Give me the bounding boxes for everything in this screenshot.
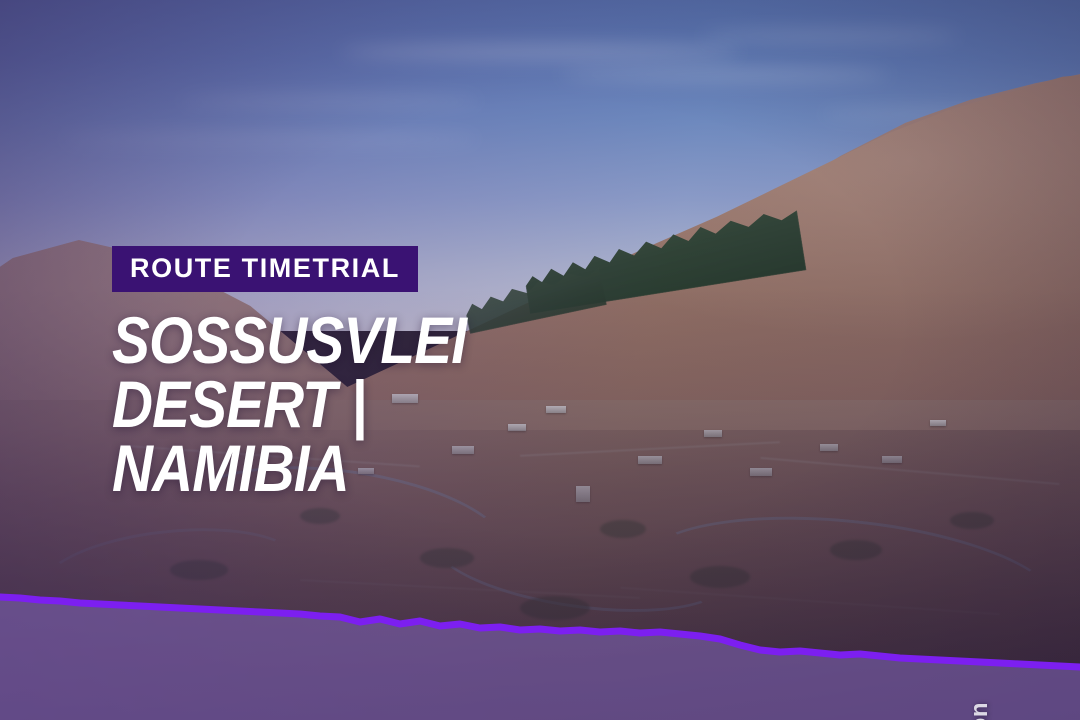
page-title: SOSSUSVLEI DESERT | NAMIBIA xyxy=(112,308,645,500)
route-preview-card: ROUTE TIMETRIAL SOSSUSVLEI DESERT | NAMI… xyxy=(0,0,1080,720)
route-type-badge: ROUTE TIMETRIAL xyxy=(112,246,418,292)
elevation-axis-label: Elevation xyxy=(966,702,994,720)
elevation-profile-chart xyxy=(0,520,1080,720)
route-type-badge-label: ROUTE TIMETRIAL xyxy=(130,253,400,283)
